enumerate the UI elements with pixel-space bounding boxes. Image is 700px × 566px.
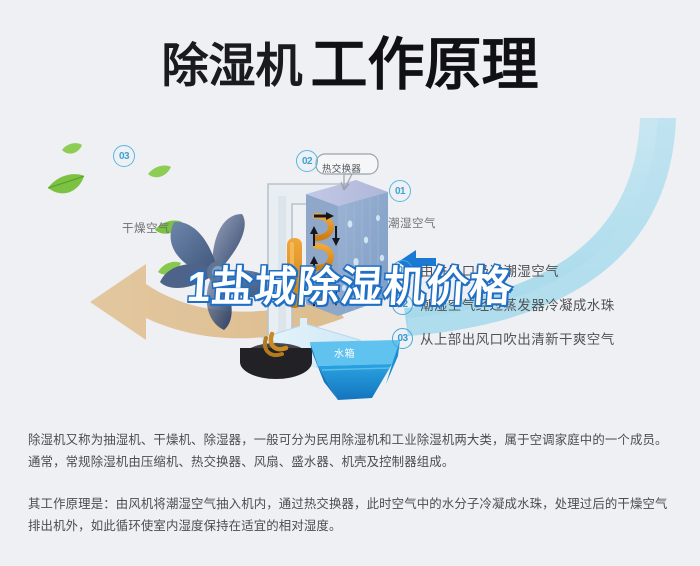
page-title: 除湿机 工作原理 bbox=[0, 30, 700, 100]
description-paragraph-1: 除湿机又称为抽湿机、干燥机、除湿器，一般可分为民用除湿机和工业除湿机两大类，属于… bbox=[28, 429, 676, 473]
water-tank bbox=[310, 340, 400, 400]
step-badge-02: 02 bbox=[392, 294, 413, 315]
water-tank-label: 水箱 bbox=[334, 345, 355, 360]
title-secondary: 工作原理 bbox=[311, 37, 539, 94]
process-step-list: 01 由进风口吸进潮湿空气 02 潮湿空气经过蒸发器冷凝成水珠 03 从上部出风… bbox=[392, 253, 692, 355]
description-paragraph-2: 其工作原理是：由风机将潮湿空气抽入机内，通过热交换器，此时空气中的水分子冷凝成水… bbox=[28, 493, 676, 537]
diagram-badge-03: 03 bbox=[113, 145, 135, 167]
list-item: 01 由进风口吸进潮湿空气 bbox=[392, 253, 692, 287]
infographic-page: 除湿机 工作原理 bbox=[0, 0, 700, 566]
description-block: 除湿机又称为抽湿机、干燥机、除湿器，一般可分为民用除湿机和工业除湿机两大类，属于… bbox=[28, 417, 676, 550]
heat-exchanger-label: 热交换器 bbox=[322, 161, 361, 175]
step-text-02: 潮湿空气经过蒸发器冷凝成水珠 bbox=[420, 294, 615, 314]
step-badge-01: 01 bbox=[392, 260, 413, 281]
diagram-badge-01: 01 bbox=[389, 180, 411, 202]
step-badge-03: 03 bbox=[392, 328, 413, 349]
step-text-01: 由进风口吸进潮湿空气 bbox=[420, 260, 559, 280]
title-primary: 除湿机 bbox=[162, 42, 303, 89]
list-item: 03 从上部出风口吹出清新干爽空气 bbox=[392, 321, 692, 355]
list-item: 02 潮湿空气经过蒸发器冷凝成水珠 bbox=[392, 287, 692, 321]
diagram-badge-02: 02 bbox=[296, 150, 318, 172]
dry-air-label: 干燥空气 bbox=[122, 220, 170, 236]
humid-air-label: 潮湿空气 bbox=[388, 215, 436, 231]
accumulator-cylinder bbox=[287, 238, 302, 308]
step-text-03: 从上部出风口吹出清新干爽空气 bbox=[420, 328, 615, 348]
